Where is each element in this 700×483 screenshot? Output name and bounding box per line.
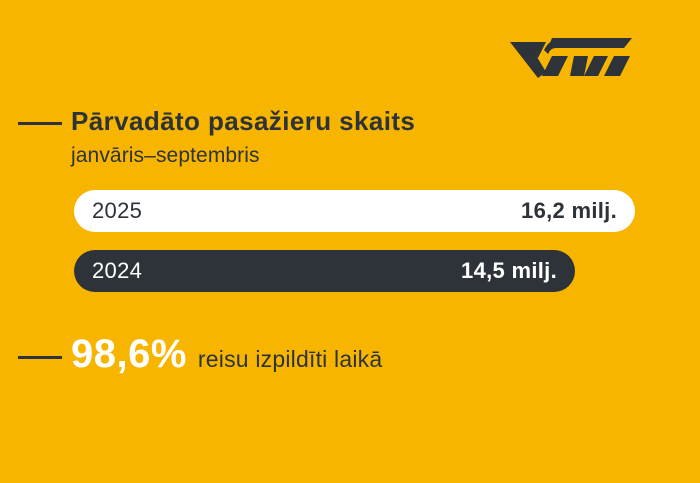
passenger-bar-chart: 2025 16,2 milj. 2024 14,5 milj.	[74, 190, 636, 294]
stat-label: reisu izpildīti laikā	[198, 348, 382, 371]
title-accent-dash	[18, 122, 62, 125]
page-subtitle: janvāris–septembris	[71, 144, 260, 168]
page-title: Pārvadāto pasažieru skaits	[71, 106, 415, 137]
bar-row-2025: 2025 16,2 milj.	[74, 190, 635, 232]
bar-value-2024: 14,5 milj.	[461, 258, 557, 284]
stat-accent-dash	[18, 356, 62, 359]
punctuality-stat: 98,6% reisu izpildīti laikā	[71, 334, 382, 374]
bar-label-2025: 2025	[92, 198, 142, 224]
bar-value-2025: 16,2 milj.	[521, 198, 617, 224]
vivi-logo	[508, 36, 634, 80]
bar-row-2024: 2024 14,5 milj.	[74, 250, 575, 292]
vivi-wordmark-logo	[508, 36, 634, 80]
stat-number: 98,6%	[71, 334, 187, 374]
infographic-canvas: Pārvadāto pasažieru skaits janvāris–sept…	[0, 0, 700, 483]
bar-label-2024: 2024	[92, 258, 142, 284]
